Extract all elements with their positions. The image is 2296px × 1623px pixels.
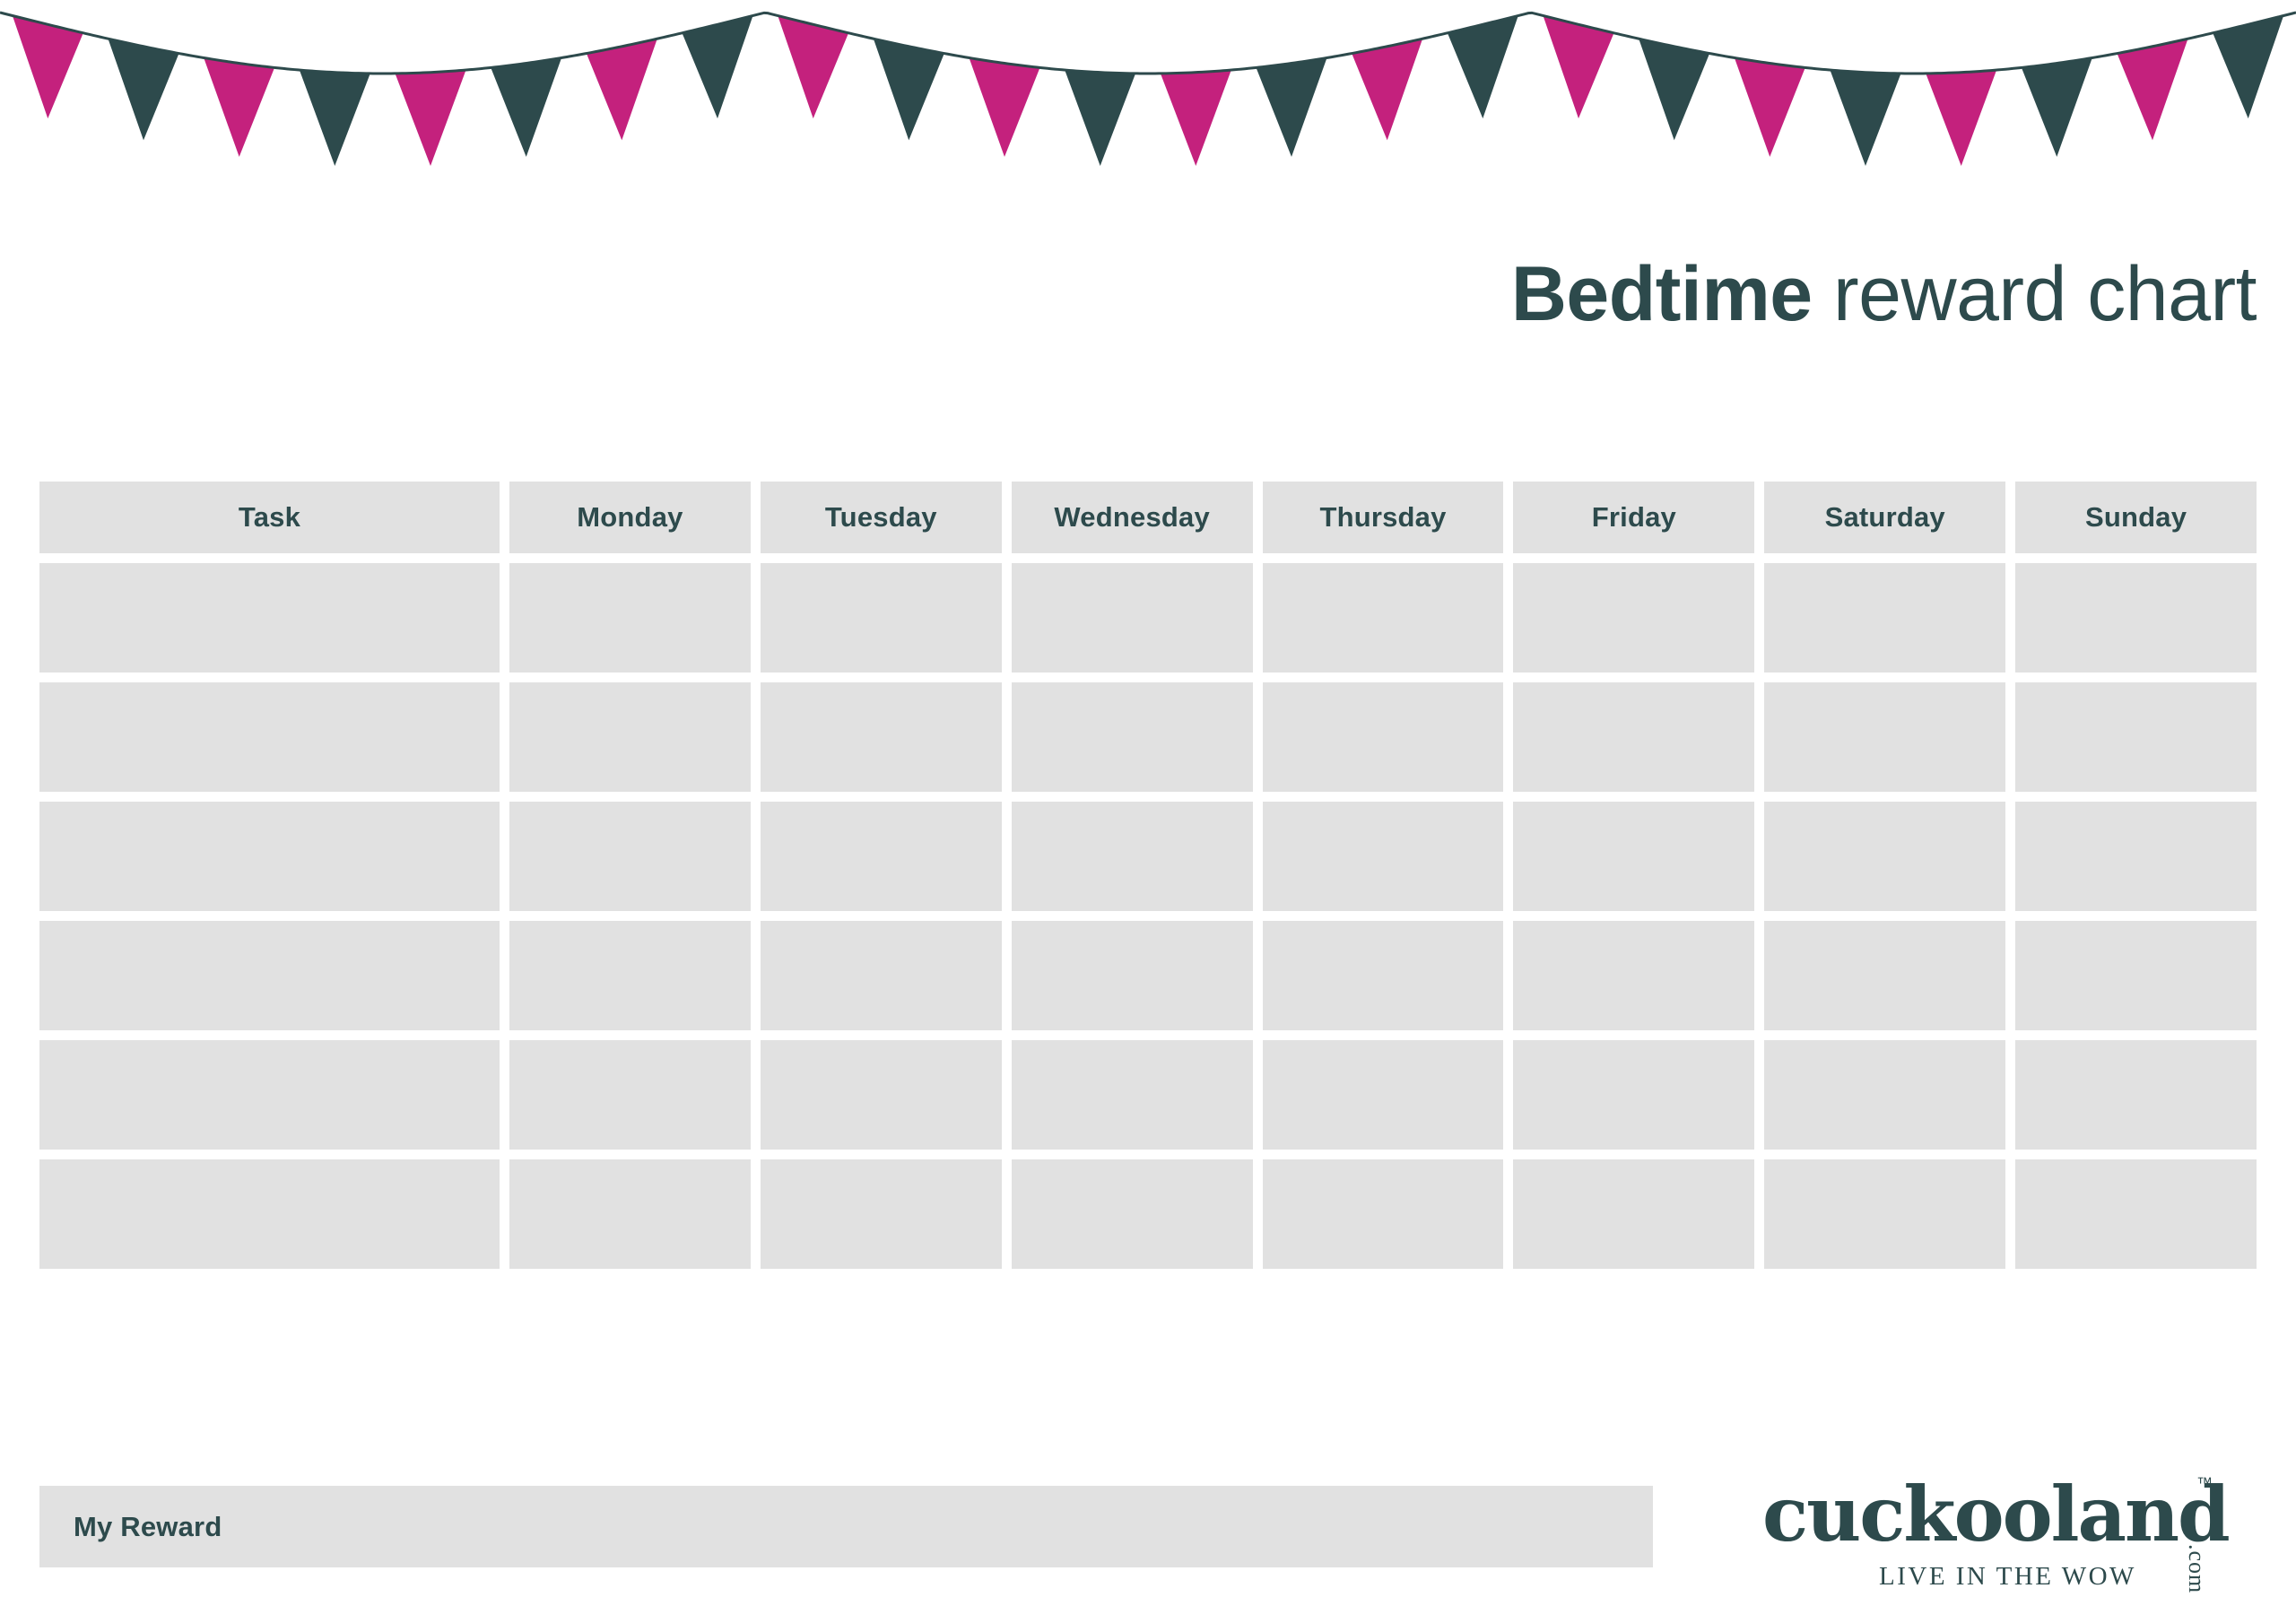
table-header-cell-thursday: Thursday [1263, 482, 1504, 553]
bunting-flag [587, 39, 657, 140]
table-cell-saturday-4[interactable] [1764, 921, 2005, 1030]
logo-tagline: LIVE IN THE WOW [1879, 1562, 2136, 1591]
bunting-flag [683, 16, 753, 119]
table-cell-friday-2[interactable] [1513, 682, 1754, 792]
logo-wordmark: cuckooland [1762, 1470, 2229, 1558]
table-cell-monday-6[interactable] [509, 1159, 751, 1269]
table-cell-tuesday-5[interactable] [761, 1040, 1002, 1150]
table-cell-saturday-2[interactable] [1764, 682, 2005, 792]
table-cell-wednesday-1[interactable] [1012, 563, 1253, 673]
table-header-cell-monday: Monday [509, 482, 751, 553]
table-row [39, 921, 2257, 1030]
table-cell-tuesday-1[interactable] [761, 563, 1002, 673]
bunting-flag [1352, 39, 1422, 140]
logo-trademark-icon: ™ [2196, 1474, 2213, 1492]
bunting-flag [491, 58, 561, 157]
table-header-cell-tuesday: Tuesday [761, 482, 1002, 553]
table-cell-sunday-2[interactable] [2015, 682, 2257, 792]
logo-domain-suffix: .com [2184, 1544, 2210, 1593]
bunting-flag [300, 70, 370, 166]
bunting-flag [1544, 16, 1614, 119]
table-row [39, 563, 2257, 673]
bunting-flag [2118, 39, 2188, 140]
table-cell-sunday-3[interactable] [2015, 802, 2257, 911]
table-row [39, 802, 2257, 911]
bunting-flag [1926, 70, 1996, 166]
table-cell-tuesday-6[interactable] [761, 1159, 1002, 1269]
table-cell-tuesday-4[interactable] [761, 921, 1002, 1030]
table-cell-task-1[interactable] [39, 563, 500, 673]
page-title: Bedtime reward chart [642, 256, 2257, 333]
table-cell-saturday-3[interactable] [1764, 802, 2005, 911]
table-cell-wednesday-2[interactable] [1012, 682, 1253, 792]
table-cell-monday-3[interactable] [509, 802, 751, 911]
table-cell-thursday-5[interactable] [1263, 1040, 1504, 1150]
table-cell-thursday-6[interactable] [1263, 1159, 1504, 1269]
table-cell-task-3[interactable] [39, 802, 500, 911]
table-cell-wednesday-3[interactable] [1012, 802, 1253, 911]
page-title-light: reward chart [1833, 251, 2257, 337]
bunting-flag [2213, 16, 2283, 119]
table-cell-wednesday-5[interactable] [1012, 1040, 1253, 1150]
bunting-flag [1065, 70, 1135, 166]
table-header-label-monday: Monday [577, 501, 683, 534]
bunting-flag [1161, 70, 1231, 166]
table-header-label-friday: Friday [1592, 501, 1676, 534]
table-row [39, 1159, 2257, 1269]
table-cell-wednesday-4[interactable] [1012, 921, 1253, 1030]
table-cell-task-5[interactable] [39, 1040, 500, 1150]
bunting-flag [1257, 58, 1327, 157]
table-header-label-task: Task [239, 501, 300, 534]
reward-chart-table: TaskMondayTuesdayWednesdayThursdayFriday… [39, 482, 2257, 1269]
table-cell-thursday-4[interactable] [1263, 921, 1504, 1030]
table-header-cell-friday: Friday [1513, 482, 1754, 553]
table-header-cell-wednesday: Wednesday [1012, 482, 1253, 553]
bunting-svg [0, 0, 2296, 179]
table-cell-tuesday-3[interactable] [761, 802, 1002, 911]
bunting-flag [396, 70, 466, 166]
table-header-label-thursday: Thursday [1319, 501, 1446, 534]
table-cell-monday-1[interactable] [509, 563, 751, 673]
table-cell-thursday-2[interactable] [1263, 682, 1504, 792]
table-row [39, 1040, 2257, 1150]
cuckooland-logo-svg: cuckooland .com ™ LIVE IN THE WOW [1762, 1467, 2247, 1601]
table-cell-sunday-4[interactable] [2015, 921, 2257, 1030]
table-cell-friday-6[interactable] [1513, 1159, 1754, 1269]
table-cell-friday-1[interactable] [1513, 563, 1754, 673]
page-title-strong: Bedtime [1511, 251, 1813, 337]
table-cell-saturday-1[interactable] [1764, 563, 2005, 673]
table-cell-saturday-6[interactable] [1764, 1159, 2005, 1269]
table-header-cell-task: Task [39, 482, 500, 553]
bunting-flag [1735, 58, 1805, 157]
table-cell-sunday-6[interactable] [2015, 1159, 2257, 1269]
bunting-flag [1448, 16, 1518, 119]
table-body [39, 563, 2257, 1269]
bunting-flag [1639, 39, 1709, 140]
table-cell-tuesday-2[interactable] [761, 682, 1002, 792]
my-reward-field[interactable]: My Reward [39, 1486, 1653, 1567]
table-cell-saturday-5[interactable] [1764, 1040, 2005, 1150]
table-cell-wednesday-6[interactable] [1012, 1159, 1253, 1269]
table-cell-friday-5[interactable] [1513, 1040, 1754, 1150]
table-cell-friday-3[interactable] [1513, 802, 1754, 911]
table-cell-monday-5[interactable] [509, 1040, 751, 1150]
table-header-label-sunday: Sunday [2085, 501, 2187, 534]
table-cell-task-4[interactable] [39, 921, 500, 1030]
cuckooland-logo: cuckooland .com ™ LIVE IN THE WOW [1762, 1467, 2247, 1601]
bunting-flag [13, 16, 83, 119]
table-cell-thursday-1[interactable] [1263, 563, 1504, 673]
table-cell-task-6[interactable] [39, 1159, 500, 1269]
table-cell-thursday-3[interactable] [1263, 802, 1504, 911]
bunting-string [0, 13, 2296, 74]
table-header-label-tuesday: Tuesday [825, 501, 937, 534]
table-header-cell-saturday: Saturday [1764, 482, 2005, 553]
table-header-cell-sunday: Sunday [2015, 482, 2257, 553]
bunting-flag [1831, 70, 1901, 166]
table-header-row: TaskMondayTuesdayWednesdayThursdayFriday… [39, 482, 2257, 553]
table-header-label-wednesday: Wednesday [1054, 501, 1210, 534]
my-reward-label: My Reward [39, 1511, 222, 1543]
bunting-flag [778, 16, 848, 119]
table-cell-friday-4[interactable] [1513, 921, 1754, 1030]
table-cell-sunday-1[interactable] [2015, 563, 2257, 673]
bunting-flag [874, 39, 944, 140]
table-cell-monday-2[interactable] [509, 682, 751, 792]
table-header-label-saturday: Saturday [1825, 501, 1945, 534]
table-cell-monday-4[interactable] [509, 921, 751, 1030]
bunting-flag [204, 58, 274, 157]
bunting-flag [970, 58, 1040, 157]
bunting-flag [109, 39, 179, 140]
table-cell-task-2[interactable] [39, 682, 500, 792]
bunting-flag [2022, 58, 2092, 157]
table-cell-sunday-5[interactable] [2015, 1040, 2257, 1150]
bunting-banner [0, 0, 2296, 179]
table-row [39, 682, 2257, 792]
